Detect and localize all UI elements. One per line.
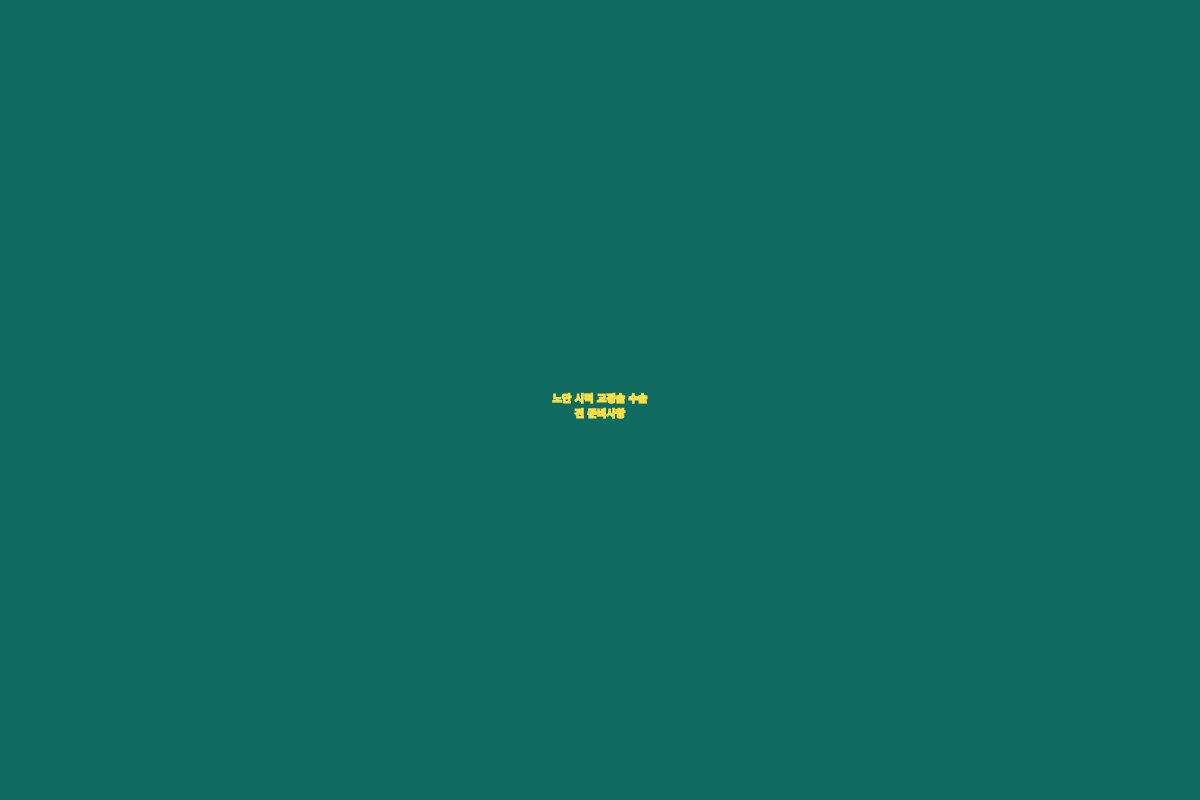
title-card: 노안 시력 교정술 수술 전 준비사항 xyxy=(0,0,1200,800)
headline-line-2: 전 준비사항 xyxy=(0,408,1200,421)
headline-line-1: 노안 시력 교정술 수술 xyxy=(0,393,1200,406)
headline-block: 노안 시력 교정술 수술 전 준비사항 xyxy=(0,393,1200,422)
